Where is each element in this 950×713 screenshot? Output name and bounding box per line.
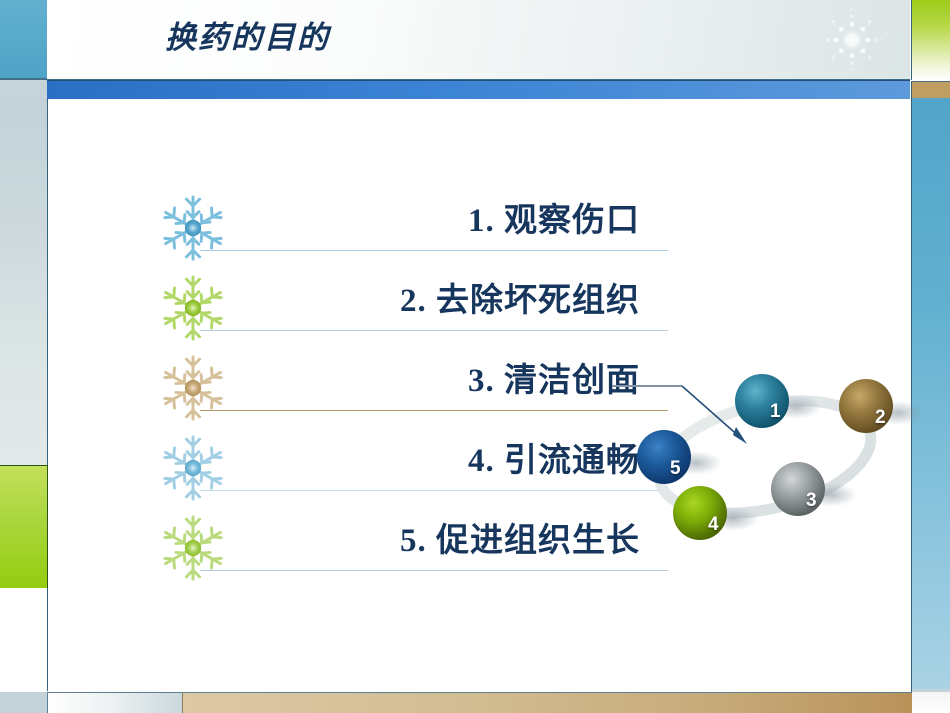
sphere-1-label: 1 bbox=[770, 401, 781, 423]
left-accent-green bbox=[0, 465, 48, 589]
slide: 换药的目的 1. 观察伤口 bbox=[0, 0, 950, 713]
list-item: 2. 去除坏死组织 bbox=[156, 267, 656, 347]
sphere-5 bbox=[637, 430, 691, 484]
sphere-3-label: 3 bbox=[806, 490, 817, 512]
header-accent-bar bbox=[47, 80, 910, 100]
slide-header: 换药的目的 bbox=[47, 0, 910, 80]
left-accent-teal bbox=[0, 0, 48, 79]
snowflake-icon-green2 bbox=[156, 511, 230, 585]
right-accent-green bbox=[911, 0, 950, 80]
slide-body: 1. 观察伤口 2. 去除坏死组织 bbox=[48, 99, 910, 691]
list-item: 1. 观察伤口 bbox=[156, 187, 656, 267]
left-accent-white bbox=[0, 588, 48, 691]
sphere-2-label: 2 bbox=[875, 407, 886, 429]
starburst-icon bbox=[818, 6, 886, 74]
bottom-bar-gradient bbox=[48, 692, 182, 713]
left-accent-column-lower bbox=[0, 367, 48, 465]
snowflake-icon-blue bbox=[156, 191, 230, 265]
list-item-rule bbox=[200, 250, 668, 251]
list-item-label: 2. 去除坏死组织 bbox=[248, 273, 640, 321]
right-accent-bottom bbox=[911, 692, 950, 713]
cycle-diagram: 1 2 3 4 5 bbox=[600, 355, 920, 560]
list-item: 4. 引流通畅 bbox=[156, 427, 656, 507]
list-item-rule bbox=[200, 570, 668, 571]
snowflake-icon-tan bbox=[156, 351, 230, 425]
list-item-rule bbox=[200, 330, 668, 331]
left-accent-column bbox=[0, 97, 48, 367]
diagram-graphics bbox=[600, 355, 920, 560]
list-item: 5. 促进组织生长 bbox=[156, 507, 656, 587]
list-item: 3. 清洁创面 bbox=[156, 347, 656, 427]
sphere-5-label: 5 bbox=[670, 458, 681, 480]
list-item-label: 1. 观察伤口 bbox=[248, 193, 640, 241]
left-accent-small bbox=[0, 79, 48, 99]
snowflake-icon-green bbox=[156, 271, 230, 345]
list-item-rule bbox=[200, 490, 668, 491]
left-accent-bottom bbox=[0, 692, 48, 713]
list-item-rule bbox=[200, 410, 668, 411]
bottom-bar-tan bbox=[182, 692, 912, 713]
snowflake-icon-lightblue bbox=[156, 431, 230, 505]
list-item-label: 4. 引流通畅 bbox=[248, 433, 640, 481]
objective-list: 1. 观察伤口 2. 去除坏死组织 bbox=[156, 187, 656, 587]
list-item-label: 3. 清洁创面 bbox=[248, 353, 640, 401]
page-title: 换药的目的 bbox=[165, 12, 330, 57]
sphere-4-label: 4 bbox=[708, 514, 719, 536]
list-item-label: 5. 促进组织生长 bbox=[248, 513, 640, 561]
